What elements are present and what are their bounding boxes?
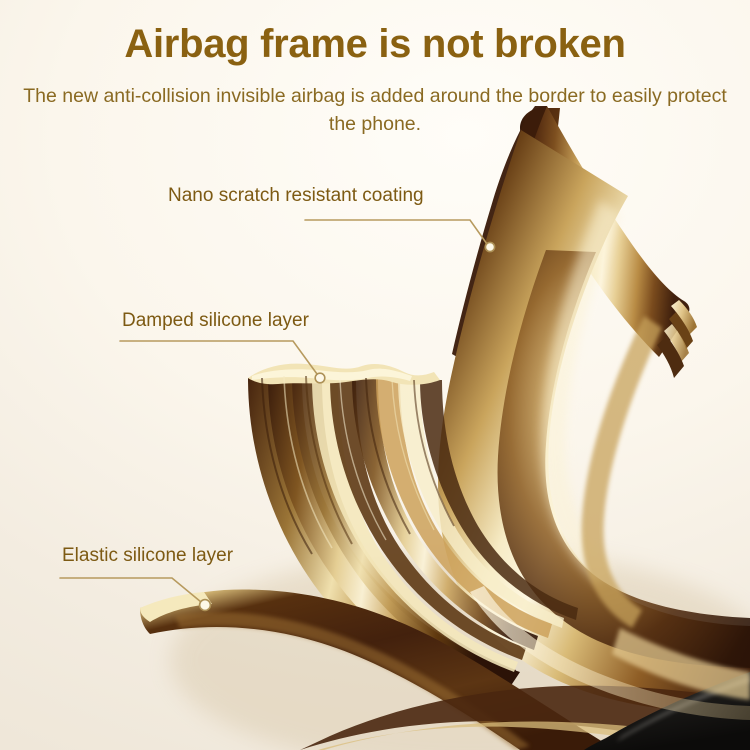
callout-label-elastic-silicone: Elastic silicone layer (62, 546, 233, 565)
text-overlay: Airbag frame is not broken The new anti-… (0, 0, 750, 750)
callout-label-nano-coating: Nano scratch resistant coating (168, 186, 424, 205)
promo-image: Airbag frame is not broken The new anti-… (0, 0, 750, 750)
page-subtitle: The new anti-collision invisible airbag … (8, 82, 742, 139)
page-title: Airbag frame is not broken (0, 22, 750, 66)
callout-label-damped-silicone: Damped silicone layer (122, 311, 309, 330)
